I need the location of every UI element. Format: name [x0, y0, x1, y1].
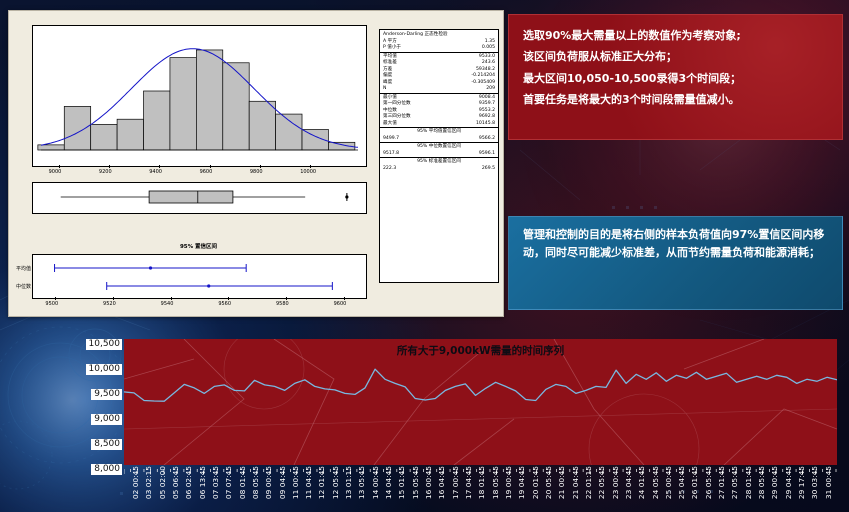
timeseries-xtick: 16 00:45 [424, 466, 433, 499]
ci-block: 95% 平均值置信区间 [380, 128, 498, 136]
timeseries-xtick: 27 01:45 [717, 466, 726, 499]
histogram-xtick: 9800 [250, 169, 263, 175]
timeseries-xtick: 02 00:45 [131, 466, 140, 499]
confidence-interval-plot [32, 254, 367, 299]
histogram-xtick: 9600 [200, 169, 213, 175]
stat-value: 209 [443, 86, 498, 93]
timeseries-xtick: 08 05:45 [251, 466, 260, 499]
ci-high: 9596.1 [443, 151, 498, 158]
ci-plot-title: 95% 置信区间 [32, 242, 365, 250]
histogram-xtick: 9000 [49, 169, 62, 175]
timeseries-xtick: 27 05:45 [730, 466, 739, 499]
stat-row: N209 [380, 86, 498, 93]
timeseries-xtick: 18 01:45 [477, 466, 486, 499]
timeseries-xtick: 06 02:45 [184, 466, 193, 499]
timeseries-xtick: 15 05:45 [411, 466, 420, 499]
callout-blue-text: 管理和控制的目的是将右侧的样本负荷值向97%置信区间内移动，同时尽可能减少标准差… [509, 217, 842, 272]
histogram-xtick: 10000 [300, 169, 316, 175]
timeseries-xtick: 19 04:45 [517, 466, 526, 499]
timeseries-xtick: 13 01:15 [344, 466, 353, 499]
timeseries-xtick: 13 05:45 [357, 466, 366, 499]
histogram-plot [32, 25, 367, 167]
ci-low: 9499.7 [380, 136, 443, 143]
histogram-tickmark [310, 165, 311, 168]
histogram-xtick: 9200 [99, 169, 112, 175]
ci-title: 95% 平均值置信区间 [380, 128, 498, 136]
timeseries-xtick: 09 00:45 [264, 466, 273, 499]
timeseries-plot-area: 所有大于9,000kW需量的时间序列 [124, 339, 837, 465]
timeseries-xtick: 09 04:45 [278, 466, 287, 499]
timeseries-xtick: 25 00:45 [664, 466, 673, 499]
ci-values: 9517.89596.1 [380, 151, 498, 158]
callout-red-text: 选取90%最大需量以上的数值作为考察对象; 该区间负荷服从标准正大分布； 最大区… [509, 15, 842, 121]
timeseries-xtick: 23 04:45 [624, 466, 633, 499]
timeseries-xtick: 22 01:15 [584, 466, 593, 499]
stat-label: 最大值 [380, 121, 443, 128]
timeseries-xtick: 29 04:45 [784, 466, 793, 499]
ci-high: 9566.2 [443, 136, 498, 143]
ci-tickmark [171, 297, 172, 300]
callout-red-line-2: 该区间负荷服从标准正大分布； [523, 46, 828, 67]
ci-xtick: 9580 [276, 301, 289, 307]
stat-value: 10145.8 [443, 121, 498, 128]
ci-row-label-mean: 平均值 [9, 265, 31, 272]
histogram-svg [33, 26, 364, 164]
timeseries-xtick: 14 00:45 [371, 466, 380, 499]
stat-row: P 值小于0.005 [380, 45, 498, 52]
statistics-table: Anderson-Darling 正态性检验 A 平方1.35 P 值小于0.0… [379, 29, 499, 283]
timeseries-ytick: 10,500 [86, 339, 123, 350]
stat-value: 9533.0 [443, 52, 498, 60]
timeseries-xtick: 17 00:45 [451, 466, 460, 499]
timeseries-xtick: 16 04:45 [437, 466, 446, 499]
ci-xtick: 9520 [103, 301, 116, 307]
boxplot-svg [33, 183, 364, 211]
timeseries-title: 所有大于9,000kW需量的时间序列 [124, 343, 837, 358]
stat-label: 平均值 [380, 52, 443, 60]
histogram-xtick: 9400 [149, 169, 162, 175]
callout-red-line-4: 首要任务是将最大的3个时间段需量值减小。 [523, 89, 828, 110]
timeseries-ytick: 9,000 [91, 414, 122, 425]
timeseries-chart: 所有大于9,000kW需量的时间序列 [124, 339, 837, 465]
ci-tickmark [228, 297, 229, 300]
timeseries-xtick: 26 05:45 [704, 466, 713, 499]
ci-tickmark [55, 297, 56, 300]
stat-value: 0.005 [443, 45, 498, 52]
timeseries-xtick: 18 05:45 [491, 466, 500, 499]
histogram-tickmark [210, 165, 211, 168]
timeseries-xtick: 19 00:45 [504, 466, 513, 499]
histogram-tickmark [159, 165, 160, 168]
histogram-tickmark [59, 165, 60, 168]
callout-red-line-3: 最大区间10,050-10,500录得3个时间段； [523, 68, 828, 89]
timeseries-xtick: 25 04:45 [677, 466, 686, 499]
ci-title: 95% 标准差置信区间 [380, 158, 498, 166]
timeseries-xtick: 14 04:45 [384, 466, 393, 499]
timeseries-xtick: 05 06:45 [171, 466, 180, 499]
boxplot [32, 182, 367, 214]
timeseries-xtick: 05 02:00 [158, 466, 167, 499]
ci-title: 95% 中位数置信区间 [380, 143, 498, 151]
ci-low: 9517.8 [380, 151, 443, 158]
callout-blue: 管理和控制的目的是将右侧的样本负荷值向97%置信区间内移动，同时尽可能减少标准差… [508, 216, 843, 310]
timeseries-xtick: 12 05:45 [331, 466, 340, 499]
stat-value: 9008.4 [443, 93, 498, 101]
timeseries-xtick: 24 01:45 [637, 466, 646, 499]
ci-high: 269.5 [443, 166, 498, 173]
histogram-tickmark [260, 165, 261, 168]
ci-tickmark [113, 297, 114, 300]
timeseries-xtick: 24 05:45 [651, 466, 660, 499]
timeseries-xtick: 28 01:45 [744, 466, 753, 499]
timeseries-xtick: 30 03:45 [810, 466, 819, 499]
timeseries-ytick: 10,000 [86, 364, 123, 375]
stat-row: 平均值9533.0 [380, 52, 498, 60]
ci-plot-svg [33, 255, 364, 296]
ci-xtick: 9500 [45, 301, 58, 307]
timeseries-ytick: 9,500 [91, 389, 122, 400]
graphical-summary-panel: 9000920094009600980010000 95% 置信区间 平均值 中… [8, 10, 504, 317]
timeseries-xtick: 21 00:45 [557, 466, 566, 499]
callout-red: 选取90%最大需量以上的数值作为考察对象; 该区间负荷服从标准正大分布； 最大区… [508, 14, 843, 140]
timeseries-x-axis-labels: 02 00:4503 02:1505 02:0005 06:4506 02:45… [124, 466, 837, 512]
stat-row: 最小值9008.4 [380, 93, 498, 101]
callout-red-line-1: 选取90%最大需量以上的数值作为考察对象; [523, 25, 828, 46]
timeseries-xtick: 20 01:45 [531, 466, 540, 499]
timeseries-xtick: 12 01:45 [317, 466, 326, 499]
timeseries-xtick: 07 03:45 [211, 466, 220, 499]
timeseries-xtick: 26 01:45 [690, 466, 699, 499]
timeseries-xtick: 23 00:45 [611, 466, 620, 499]
timeseries-y-axis: 10,50010,0009,5009,0008,5008,000 [62, 331, 122, 471]
stat-label: P 值小于 [380, 45, 443, 52]
timeseries-xtick: 07 07:45 [224, 466, 233, 499]
stat-label: N [380, 86, 443, 93]
ci-low: 222.3 [380, 166, 443, 173]
stat-test-title: Anderson-Darling 正态性检验 [380, 30, 498, 39]
timeseries-xtick: 17 04:45 [464, 466, 473, 499]
timeseries-xtick: 29 00:45 [770, 466, 779, 499]
timeseries-xtick: 29 17:45 [797, 466, 806, 499]
timeseries-xtick: 28 05:45 [757, 466, 766, 499]
stat-row: 最大值10145.8 [380, 121, 498, 128]
timeseries-xtick: 03 02:15 [144, 466, 153, 499]
timeseries-xtick: 21 04:45 [571, 466, 580, 499]
timeseries-xtick: 08 01:45 [238, 466, 247, 499]
ci-tickmark [286, 297, 287, 300]
ci-xtick: 9600 [334, 301, 347, 307]
timeseries-xtick: 31 00:45 [824, 466, 833, 499]
timeseries-xtick: 06 13:45 [198, 466, 207, 499]
histogram-tickmark [109, 165, 110, 168]
timeseries-xtick: 11 00:45 [291, 466, 300, 499]
timeseries-xtick: 11 04:45 [304, 466, 313, 499]
ci-xtick: 9540 [161, 301, 174, 307]
timeseries-xtick: 15 01:45 [397, 466, 406, 499]
timeseries-ytick: 8,500 [91, 439, 122, 450]
stat-label: 最小值 [380, 93, 443, 101]
ci-xtick: 9560 [218, 301, 231, 307]
timeseries-ytick: 8,000 [91, 464, 122, 475]
ci-values: 9499.79566.2 [380, 136, 498, 143]
timeseries-xtick: 20 05:45 [544, 466, 553, 499]
ci-tickmark [344, 297, 345, 300]
ci-values: 222.3269.5 [380, 166, 498, 173]
timeseries-xtick: 22 05:45 [597, 466, 606, 499]
ci-block: 95% 中位数置信区间 [380, 143, 498, 151]
ci-row-label-median: 中位数 [9, 283, 31, 290]
ci-block: 95% 标准差置信区间 [380, 158, 498, 166]
